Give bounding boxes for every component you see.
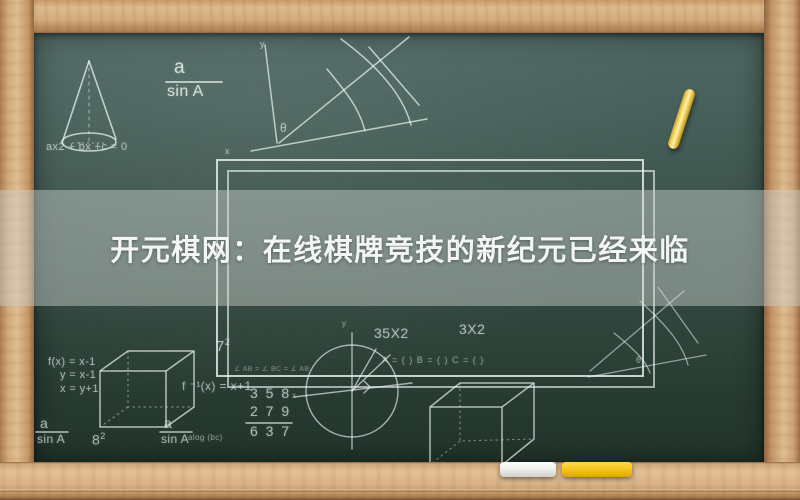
- axis-label-y: y: [260, 39, 265, 49]
- eraser-icon: [500, 462, 556, 477]
- cone-label-denominator: sin A: [167, 83, 204, 101]
- circle-axis-y: y: [342, 319, 346, 328]
- tray-chalk-icon: [562, 462, 632, 477]
- quadratic-equation: ax2 + bx +c = 0: [46, 141, 128, 153]
- sine-rule-mid-numerator: a: [164, 415, 172, 431]
- power-seven: 72: [216, 337, 230, 355]
- angle-label-theta: θ: [280, 121, 287, 135]
- division-row-2: 2 7 9: [250, 403, 291, 419]
- axis-label-x: x: [225, 146, 230, 156]
- sine-rule-mid-denominator: sin A: [161, 432, 189, 446]
- inverse-function: f ⁻¹(x) = x+1: [182, 379, 252, 393]
- small-angle-formula: ∠ AB = ∠ BC = ∠ AB: [234, 365, 309, 373]
- circle-axis-x: x: [292, 391, 296, 400]
- power-eight: 82: [92, 431, 106, 448]
- frame-top-rail: [0, 0, 800, 33]
- sine-rule-left-denominator: sin A: [37, 432, 65, 446]
- log-bc-label: alog (bc): [188, 433, 223, 442]
- chalk-tray: [0, 462, 800, 500]
- function-line-3: x = y+1: [60, 383, 99, 395]
- matrix-label-left: 35X2: [374, 325, 409, 341]
- matrix-label-right: 3X2: [459, 321, 485, 337]
- sine-rule-left-numerator: a: [40, 415, 48, 431]
- function-line-2: y = x-1: [60, 369, 96, 381]
- chalkboard-banner: a sin A ax2 + bx +c = 0 y x θ: [0, 0, 800, 500]
- division-row-3: 6 3 7: [250, 423, 291, 439]
- matrix-expression: A = ( ) B = ( ) C = ( ): [382, 355, 484, 365]
- cone-label-numerator: a: [174, 57, 185, 79]
- division-row-1: 3 5 8: [250, 385, 291, 401]
- function-line-1: f(x) = x-1: [48, 355, 96, 369]
- page-title: 开元棋网：在线棋牌竞技的新纪元已经来临: [0, 190, 800, 306]
